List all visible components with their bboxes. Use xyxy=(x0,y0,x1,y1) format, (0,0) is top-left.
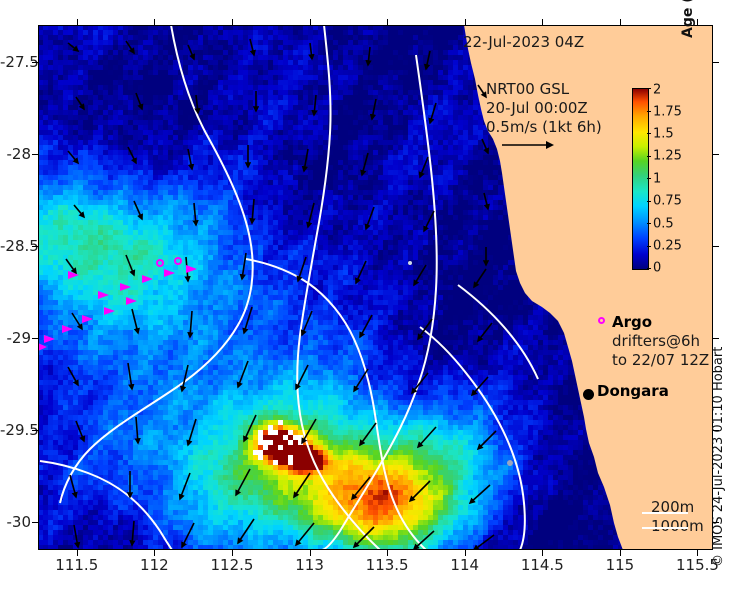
y-tick-mark xyxy=(713,430,719,431)
x-tick-mark xyxy=(154,19,155,25)
x-tick-mark xyxy=(697,550,698,556)
legend-drifters-line1: drifters@6h xyxy=(612,332,709,351)
x-tick-mark xyxy=(465,550,466,556)
x-tick-label-5: 114 xyxy=(450,556,479,574)
legend-drifters-line2: to 22/07 12Z xyxy=(612,351,709,370)
y-tick-mark xyxy=(32,62,38,63)
colorbar-tick-7: 0.25 xyxy=(653,239,682,254)
colorbar-tick-0: 2 xyxy=(653,83,661,98)
y-tick-mark xyxy=(32,338,38,339)
bathy-200m-line-sample xyxy=(642,512,688,514)
x-tick-label-2: 112.5 xyxy=(210,556,253,574)
dongara-label: Dongara xyxy=(597,382,669,400)
x-tick-mark xyxy=(542,19,543,25)
right-arrow-icon xyxy=(500,137,560,153)
legend-argo-label: Argo xyxy=(612,313,709,332)
x-tick-mark xyxy=(465,19,466,25)
y-tick-label-1: -28 xyxy=(0,145,31,163)
x-tick-label-7: 115 xyxy=(606,556,635,574)
colorbar-tick-5: 0.75 xyxy=(653,194,682,209)
colorbar-title: Age (days) of filled SST (wrt latest) xyxy=(680,18,696,38)
colorbar-tick-6: 0.5 xyxy=(653,217,674,232)
model-scale: 0.5m/s (1kt 6h) xyxy=(486,118,602,137)
y-tick-mark xyxy=(713,62,719,63)
colorbar-tick-3: 1.25 xyxy=(653,149,682,164)
x-tick-mark xyxy=(232,550,233,556)
x-tick-mark xyxy=(154,550,155,556)
bathymetry-key: 200m 1000m xyxy=(651,498,704,536)
x-tick-mark xyxy=(77,550,78,556)
x-tick-mark xyxy=(387,550,388,556)
marker-legend: Argo drifters@6h to 22/07 12Z xyxy=(612,313,709,370)
x-tick-mark xyxy=(542,550,543,556)
model-info-block: NRT00 GSL 20-Jul 00:00Z 0.5m/s (1kt 6h) xyxy=(486,80,602,153)
y-tick-mark xyxy=(713,154,719,155)
date-stamp: 22-Jul-2023 04Z xyxy=(463,33,584,51)
y-tick-mark xyxy=(32,154,38,155)
y-tick-label-5: -30 xyxy=(0,513,31,531)
y-tick-label-3: -29 xyxy=(0,329,31,347)
colorbar-tick-4: 1 xyxy=(653,172,661,187)
x-tick-mark xyxy=(387,19,388,25)
colorbar-gradient xyxy=(632,88,649,270)
x-tick-label-4: 113.5 xyxy=(366,556,409,574)
x-tick-mark xyxy=(310,19,311,25)
y-tick-mark xyxy=(32,246,38,247)
x-tick-mark xyxy=(77,19,78,25)
colorbar-tick-8: 0 xyxy=(653,261,661,276)
colorbar-tick-2: 1.5 xyxy=(653,127,674,142)
x-tick-label-8: 115.5 xyxy=(676,556,719,574)
y-tick-label-4: -29.5 xyxy=(0,421,31,439)
x-tick-label-6: 114.5 xyxy=(521,556,564,574)
y-tick-mark xyxy=(713,246,719,247)
dongara-marker xyxy=(583,389,594,400)
x-tick-label-1: 112 xyxy=(140,556,169,574)
map-plot-area xyxy=(38,25,713,550)
y-tick-label-0: -27.5 xyxy=(0,53,31,71)
x-tick-mark xyxy=(310,550,311,556)
x-tick-mark xyxy=(620,19,621,25)
y-tick-mark xyxy=(713,338,719,339)
x-tick-label-0: 111.5 xyxy=(55,556,98,574)
x-tick-label-3: 113 xyxy=(295,556,324,574)
model-time: 20-Jul 00:00Z xyxy=(486,99,602,118)
y-tick-label-2: -28.5 xyxy=(0,237,31,255)
copyright-notice: © IMOS 24-Jul-2023 01:10 Hobart xyxy=(711,347,726,567)
x-tick-mark xyxy=(697,19,698,25)
bathy-200m-label: 200m xyxy=(651,498,704,517)
colorbar-tick-1: 1.75 xyxy=(653,105,682,120)
y-tick-mark xyxy=(32,522,38,523)
model-name: NRT00 GSL xyxy=(486,80,602,99)
y-tick-mark xyxy=(713,522,719,523)
argo-marker-icon xyxy=(598,317,605,324)
x-tick-mark xyxy=(232,19,233,25)
y-tick-mark xyxy=(32,430,38,431)
bathy-1000m-line-sample xyxy=(642,527,688,529)
misc-station-markers xyxy=(38,25,713,550)
colorbar: 2 1.75 1.5 1.25 1 0.75 0.5 0.25 0 xyxy=(632,88,649,270)
x-tick-mark xyxy=(620,550,621,556)
